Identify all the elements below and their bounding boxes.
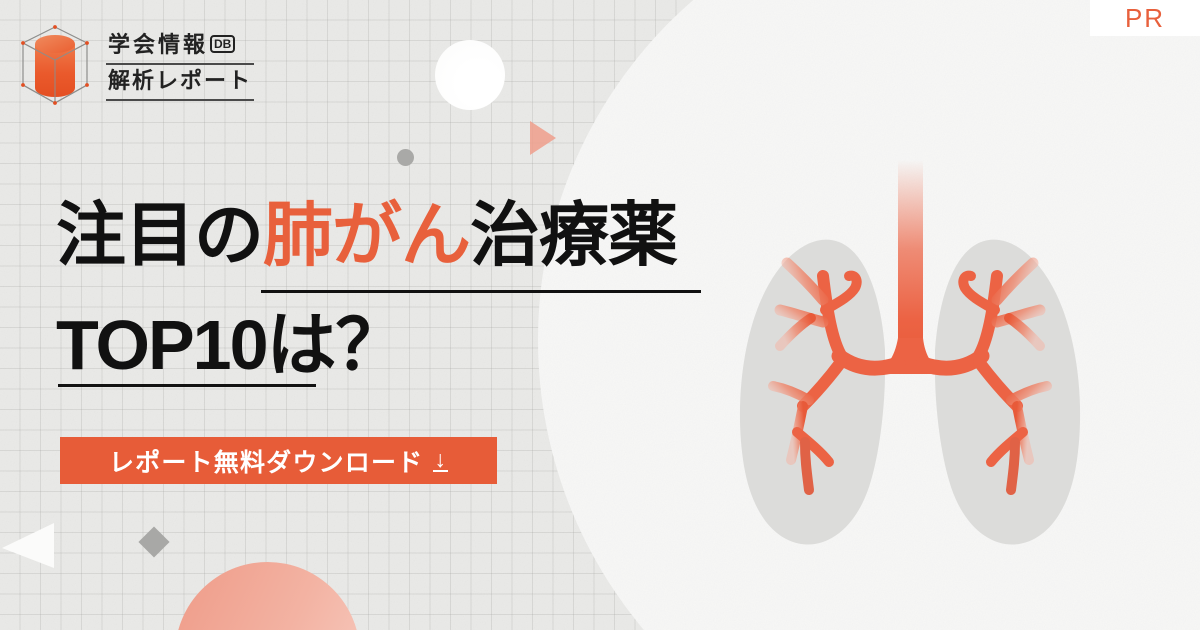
coral-triangle [530,121,556,155]
headline-line-2: TOP10は？ [56,308,405,384]
headline-prefix: 注目の [56,196,263,274]
headline-underline-1 [261,290,701,293]
white-circle [435,40,505,110]
pr-badge: PR [1090,0,1200,36]
db-mark: DB [210,35,235,53]
promo-banner: PR [0,0,1200,630]
brand-logo: 学会情報DB 解析レポート [18,22,254,108]
download-report-button[interactable]: レポート無料ダウンロード ↓ [60,437,497,484]
logo-line-2: 解析レポート [106,65,254,101]
logo-line-1-text: 学会情報 [108,32,208,57]
headline-suffix: 治療薬 [470,196,677,274]
left-lower-twig-4 [805,442,809,490]
logo-wordmark: 学会情報DB 解析レポート [106,29,254,101]
right-lower-twig-4 [1011,442,1015,490]
cta-label: レポート無料ダウンロード [109,443,423,479]
logo-line-1: 学会情報DB [106,29,254,65]
headline-question: は？ [267,306,405,384]
headline-top10: TOP10 [56,306,267,384]
headline-block: 注目の肺がん治療薬 TOP10は？ [56,198,756,274]
headline-line-1: 注目の肺がん治療薬 [56,198,756,274]
pr-badge-label: PR [1125,3,1165,34]
white-triangle [2,523,54,568]
headline-accent: 肺がん [263,196,470,274]
cylinder-in-cube-icon [18,22,92,108]
lungs-illustration [735,150,1085,550]
headline-underline-2 [58,384,316,387]
gray-dot [397,149,414,166]
download-arrow-icon: ↓ [433,449,448,472]
